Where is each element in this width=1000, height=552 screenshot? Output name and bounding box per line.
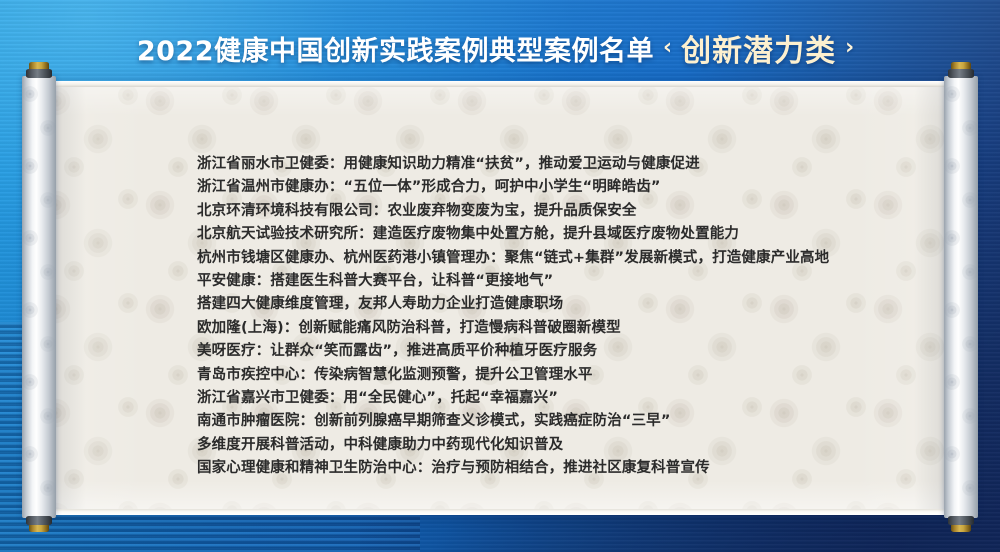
list-item: 美呀医疗：让群众“笑而露齿”，推进高质平价种植牙医疗服务 — [197, 340, 917, 363]
list-item: 杭州市钱塘区健康办、杭州医药港小镇管理办：聚焦“链式+集群”发展新模式，打造健康… — [197, 247, 917, 270]
case-list: 浙江省丽水市卫健委：用健康知识助力精准“扶贫”，推动爱卫运动与健康促进浙江省温州… — [197, 153, 917, 481]
scroll-rod-right-bottom-cap — [948, 516, 974, 532]
scroll-banner: 浙江省丽水市卫健委：用健康知识助力精准“扶贫”，推动爱卫运动与健康促进浙江省温州… — [22, 62, 978, 532]
scroll-paper: 浙江省丽水市卫健委：用健康知识助力精准“扶贫”，推动爱卫运动与健康促进浙江省温州… — [40, 81, 960, 515]
dark-ring-icon — [948, 516, 974, 525]
scroll-rod-left — [22, 62, 56, 532]
chevron-left-icon: ‹ — [663, 37, 672, 59]
scroll-rod-left-top-cap — [26, 62, 52, 78]
scroll-rod-right-barrel — [944, 76, 978, 518]
list-item: 平安健康：搭建医生科普大赛平台，让科普“更接地气” — [197, 270, 917, 293]
scroll-rod-left-barrel — [22, 76, 56, 518]
slide-root: 2022健康中国创新实践案例典型案例名单 ‹ 创新潜力类 › 浙江省丽水市卫健委… — [0, 0, 1000, 552]
list-item: 多维度开展科普活动，中科健康助力中药现代化知识普及 — [197, 434, 917, 457]
scroll-rod-right — [944, 62, 978, 532]
list-item: 南通市肿瘤医院：创新前列腺癌早期筛查义诊模式，实践癌症防治“三早” — [197, 410, 917, 433]
list-item: 欧加隆(上海)：创新赋能痛风防治科普，打造慢病科普破圈新模型 — [197, 317, 917, 340]
chevron-right-icon: › — [845, 37, 854, 59]
scroll-rod-right-top-cap — [948, 62, 974, 78]
dark-ring-icon — [26, 516, 52, 525]
list-item: 北京环清环境科技有限公司：农业废弃物变废为宝，提升品质保安全 — [197, 200, 917, 223]
list-item: 浙江省嘉兴市卫健委：用“全民健心”，托起“幸福嘉兴” — [197, 387, 917, 410]
list-item: 浙江省温州市健康办：“五位一体”形成合力，呵护中小学生“明眸皓齿” — [197, 176, 917, 199]
list-item: 浙江省丽水市卫健委：用健康知识助力精准“扶贫”，推动爱卫运动与健康促进 — [197, 153, 917, 176]
dark-ring-icon — [948, 69, 974, 78]
dark-ring-icon — [26, 69, 52, 78]
list-item: 青岛市疾控中心：传染病智慧化监测预警，提升公卫管理水平 — [197, 364, 917, 387]
list-item: 北京航天试验技术研究所：建造医疗废物集中处置方舱，提升县域医疗废物处置能力 — [197, 223, 917, 246]
list-item: 国家心理健康和精神卫生防治中心：治疗与预防相结合，推进社区康复科普宣传 — [197, 457, 917, 480]
scroll-rod-left-bottom-cap — [26, 516, 52, 532]
list-item: 搭建四大健康维度管理，友邦人寿助力企业打造健康职场 — [197, 293, 917, 316]
